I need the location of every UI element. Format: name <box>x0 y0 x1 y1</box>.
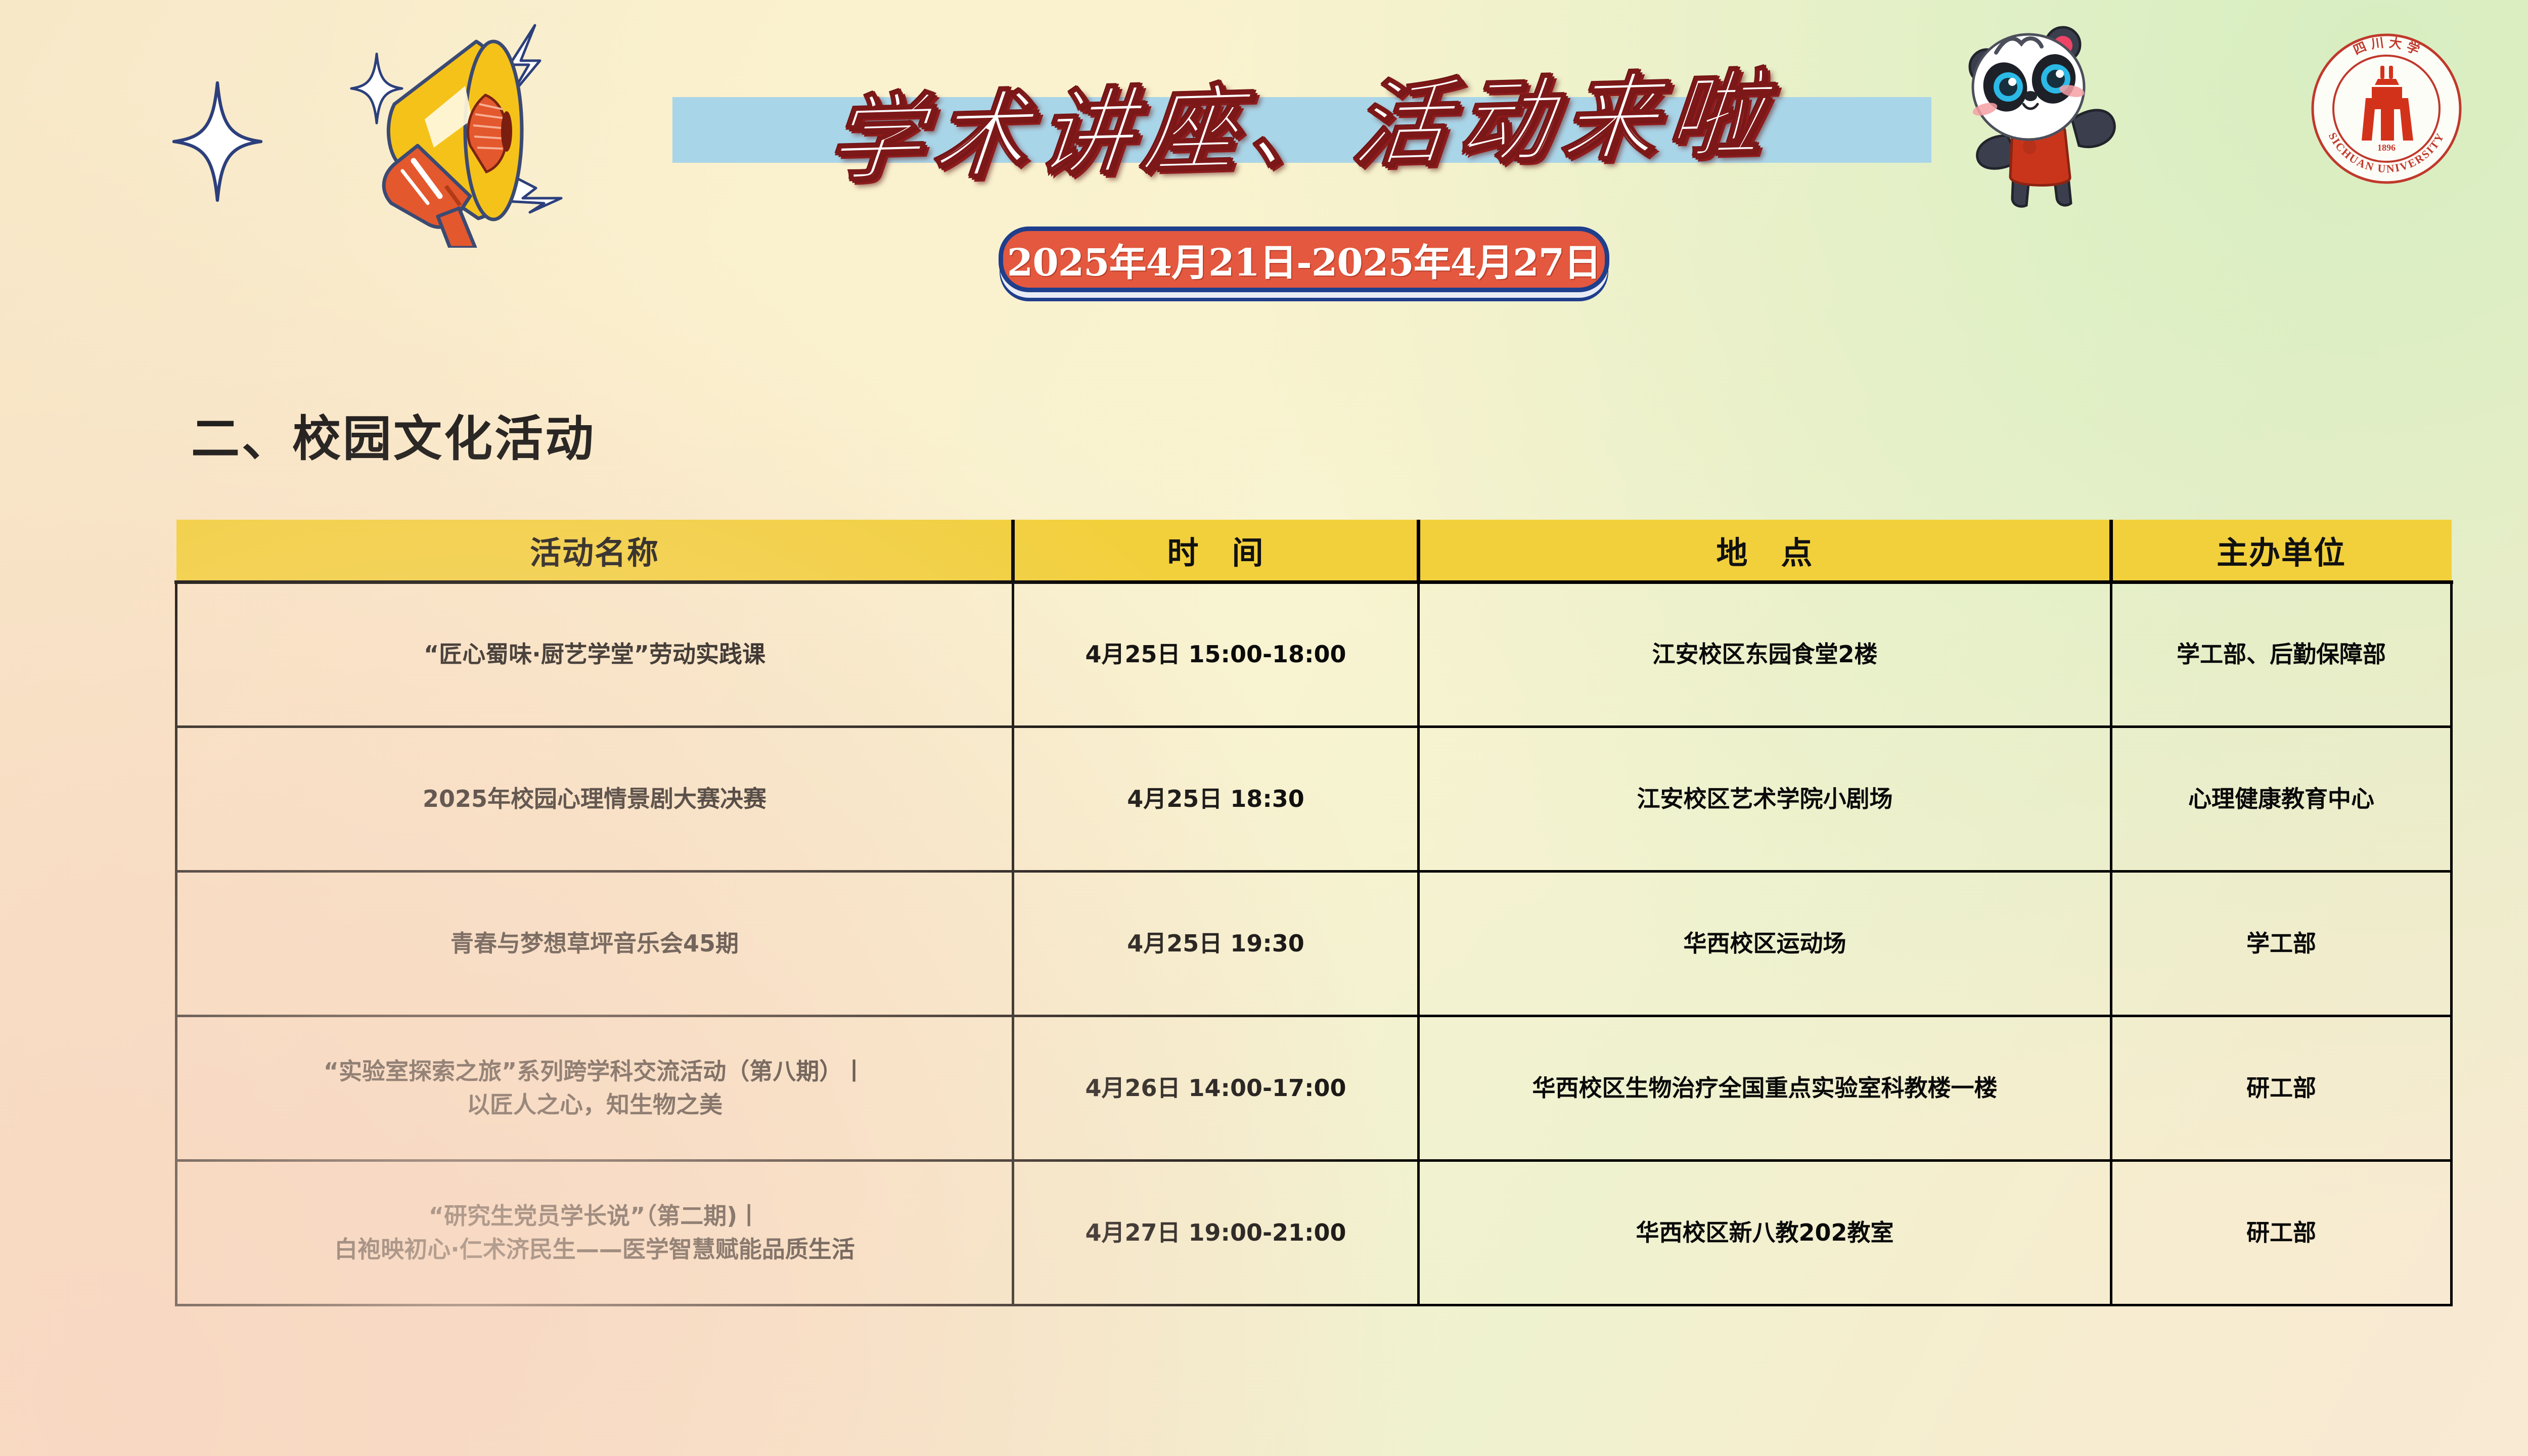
table-row: “研究生党员学长说”（第二期)丨 白袍映初心·仁术济民生——医学智慧赋能品质生活… <box>176 1161 2452 1305</box>
column-header-place: 地 点 <box>1419 520 2111 582</box>
column-header-time: 时 间 <box>1013 520 1419 582</box>
panda-mascot-icon <box>1936 10 2139 212</box>
column-header-name: 活动名称 <box>176 520 1013 582</box>
table-row: “实验室探索之旅”系列跨学科交流活动（第八期）丨 以匠人之心，知生物之美 4月2… <box>176 1016 2452 1161</box>
table-row: 青春与梦想草坪音乐会45期 4月25日 19:30 华西校区运动场 学工部 <box>176 872 2452 1016</box>
cell-activity-org: 学工部 <box>2111 872 2452 1016</box>
cell-activity-org: 研工部 <box>2111 1016 2452 1161</box>
date-range-badge: 2025年4月21日-2025年4月27日 <box>999 226 1609 292</box>
cell-activity-time: 4月27日 19:00-21:00 <box>1013 1161 1419 1305</box>
cell-activity-time: 4月25日 18:30 <box>1013 727 1419 872</box>
cell-activity-time: 4月26日 14:00-17:00 <box>1013 1016 1419 1161</box>
cell-activity-org: 心理健康教育中心 <box>2111 727 2452 872</box>
table-row: 2025年校园心理情景剧大赛决赛 4月25日 18:30 江安校区艺术学院小剧场… <box>176 727 2452 872</box>
schedule-table-wrapper: 活动名称 时 间 地 点 主办单位 “匠心蜀味·厨艺学堂”劳动实践课 4月25日… <box>174 520 2450 1306</box>
sichuan-university-logo: 1896 四 川 大 学 SICHUAN UNIVERSITY <box>2308 30 2465 187</box>
cell-activity-name: “研究生党员学长说”（第二期)丨 白袍映初心·仁术济民生——医学智慧赋能品质生活 <box>176 1161 1013 1305</box>
cell-activity-place: 华西校区新八教202教室 <box>1419 1161 2111 1305</box>
svg-text:1896: 1896 <box>2377 143 2396 153</box>
table-row: “匠心蜀味·厨艺学堂”劳动实践课 4月25日 15:00-18:00 江安校区东… <box>176 582 2452 727</box>
cell-activity-place: 江安校区艺术学院小剧场 <box>1419 727 2111 872</box>
cell-activity-name: “匠心蜀味·厨艺学堂”劳动实践课 <box>176 582 1013 727</box>
megaphone-icon <box>298 10 581 248</box>
column-header-org: 主办单位 <box>2111 520 2452 582</box>
page-title: 学术讲座、活动来啦 <box>663 28 1940 209</box>
date-range-text: 2025年4月21日-2025年4月27日 <box>1007 233 1601 287</box>
cell-activity-place: 华西校区生物治疗全国重点实验室科教楼一楼 <box>1419 1016 2111 1161</box>
cell-activity-name: “实验室探索之旅”系列跨学科交流活动（第八期）丨 以匠人之心，知生物之美 <box>176 1016 1013 1161</box>
activity-name-line: 以匠人之心，知生物之美 <box>188 1088 1002 1121</box>
poster-header: 学术讲座、活动来啦 2025年4月21日-2025年4月27日 <box>0 0 2528 324</box>
cell-activity-place: 华西校区运动场 <box>1419 872 2111 1016</box>
cell-activity-org: 学工部、后勤保障部 <box>2111 582 2452 727</box>
cell-activity-place: 江安校区东园食堂2楼 <box>1419 582 2111 727</box>
cell-activity-time: 4月25日 15:00-18:00 <box>1013 582 1419 727</box>
activity-name-line: “研究生党员学长说”（第二期)丨 <box>188 1200 1002 1233</box>
activity-name-line: 青春与梦想草坪音乐会45期 <box>188 927 1002 960</box>
activity-name-line: 白袍映初心·仁术济民生——医学智慧赋能品质生活 <box>188 1233 1002 1266</box>
table-header-row: 活动名称 时 间 地 点 主办单位 <box>176 520 2452 582</box>
activity-name-line: “匠心蜀味·厨艺学堂”劳动实践课 <box>188 638 1002 671</box>
schedule-table: 活动名称 时 间 地 点 主办单位 “匠心蜀味·厨艺学堂”劳动实践课 4月25日… <box>174 520 2453 1306</box>
activity-name-line: 2025年校园心理情景剧大赛决赛 <box>188 783 1002 815</box>
cell-activity-name: 2025年校园心理情景剧大赛决赛 <box>176 727 1013 872</box>
poster-page: 学术讲座、活动来啦 2025年4月21日-2025年4月27日 <box>0 0 2528 1456</box>
activity-name-line: “实验室探索之旅”系列跨学科交流活动（第八期）丨 <box>188 1055 1002 1088</box>
cell-activity-org: 研工部 <box>2111 1161 2452 1305</box>
cell-activity-time: 4月25日 19:30 <box>1013 872 1419 1016</box>
page-section-title: 二、校园文化活动 <box>191 399 596 470</box>
cell-activity-name: 青春与梦想草坪音乐会45期 <box>176 872 1013 1016</box>
sparkle-icon <box>172 81 263 202</box>
